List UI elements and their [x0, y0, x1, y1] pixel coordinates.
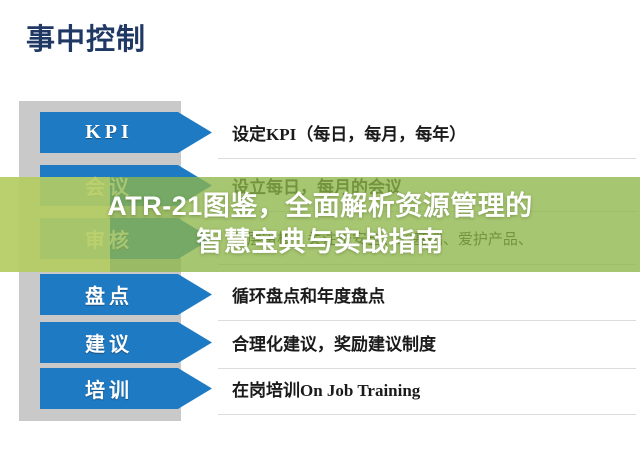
process-description: 设定KPI（每日，每月，每年） — [232, 112, 632, 153]
process-arrow-label: KPI — [85, 121, 133, 144]
overlay-headline-line-1: ATR-21图鉴，全面解析资源管理的 — [107, 190, 533, 223]
row-divider — [218, 320, 636, 321]
process-row: 培训 在岗培训On Job Training — [0, 368, 640, 409]
process-description: 在岗培训On Job Training — [232, 368, 632, 409]
page-title: 事中控制 — [26, 16, 146, 58]
process-description: 合理化建议，奖励建议制度 — [232, 322, 632, 363]
process-arrow-label: 培训 — [85, 374, 133, 403]
process-arrow[interactable]: 盘点 — [40, 274, 212, 315]
process-arrow-label: 盘点 — [85, 280, 133, 309]
row-divider — [218, 414, 636, 415]
process-arrow-label: 建议 — [85, 328, 133, 357]
overlay-headline-line-2: 智慧宝典与实战指南 — [196, 226, 444, 259]
process-arrow[interactable]: 建议 — [40, 322, 212, 363]
process-row: 盘点 循环盘点和年度盘点 — [0, 274, 640, 315]
process-row: 建议 合理化建议，奖励建议制度 — [0, 322, 640, 363]
process-arrow[interactable]: 培训 — [40, 368, 212, 409]
process-arrow[interactable]: KPI — [40, 112, 212, 153]
process-description: 循环盘点和年度盘点 — [232, 274, 632, 315]
row-divider — [218, 158, 636, 159]
title-overlay-text: ATR-21图鉴，全面解析资源管理的 智慧宝典与实战指南 — [0, 177, 640, 272]
process-row: KPI 设定KPI（每日，每月，每年） — [0, 112, 640, 153]
